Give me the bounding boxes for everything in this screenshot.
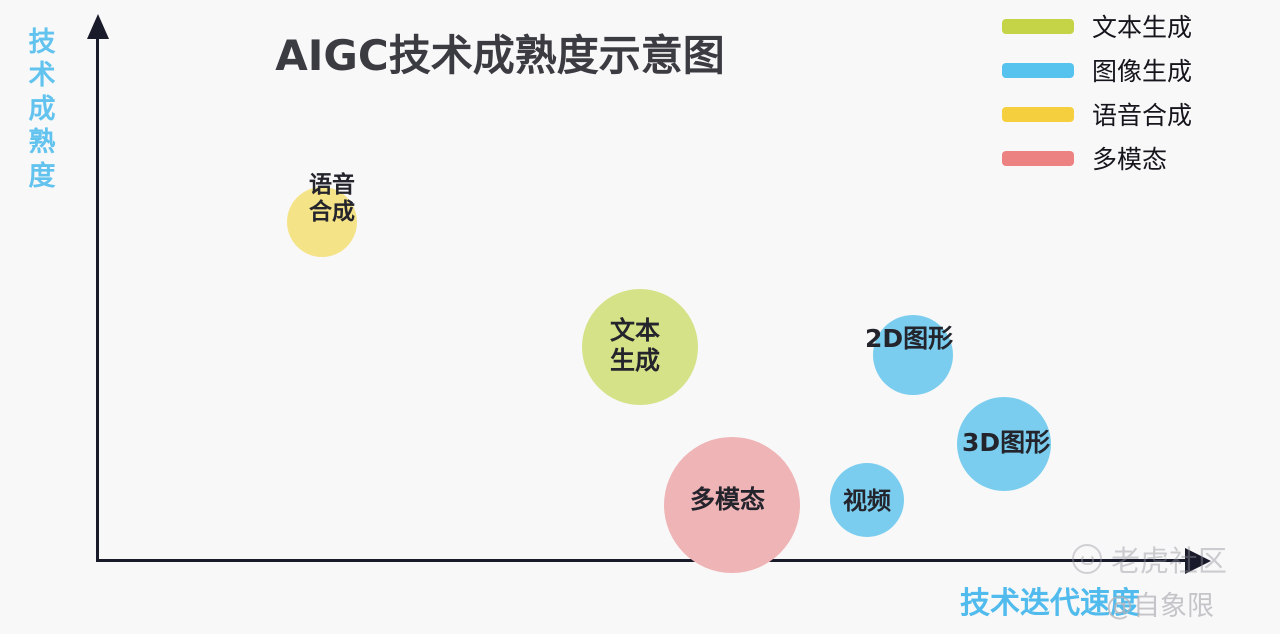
y-axis-line bbox=[96, 32, 99, 562]
legend-item-2[interactable]: 图像生成 bbox=[1002, 48, 1278, 92]
bubble-label: 2D图形 bbox=[865, 324, 953, 354]
tiger-logo-icon bbox=[1072, 544, 1102, 574]
legend: 文本生成图像生成语音合成多模态 bbox=[1002, 4, 1278, 180]
bubble-label: 文本 生成 bbox=[610, 316, 660, 375]
legend-item-label: 文本生成 bbox=[1092, 8, 1192, 44]
legend-item-label: 多模态 bbox=[1092, 140, 1167, 176]
legend-item-4[interactable]: 多模态 bbox=[1002, 136, 1278, 180]
legend-swatch-icon bbox=[1002, 151, 1074, 166]
legend-item-1[interactable]: 文本生成 bbox=[1002, 4, 1278, 48]
watermark-tiger-label: 老虎社区 bbox=[1111, 538, 1227, 580]
bubble-label: 3D图形 bbox=[962, 428, 1050, 458]
bubble-label: 语音 合成 bbox=[309, 172, 355, 226]
legend-item-label: 图像生成 bbox=[1092, 52, 1192, 88]
watermark-tiger: 老虎社区 bbox=[1072, 538, 1227, 580]
bubble-label: 视频 bbox=[843, 487, 891, 515]
chart-canvas: AIGC技术成熟度示意图 技术成熟度 技术迭代速度 语音 合成文本 生成2D图形… bbox=[0, 0, 1280, 634]
legend-swatch-icon bbox=[1002, 63, 1074, 78]
x-axis-line bbox=[96, 559, 1188, 562]
legend-item-3[interactable]: 语音合成 bbox=[1002, 92, 1278, 136]
legend-item-label: 语音合成 bbox=[1092, 96, 1192, 132]
y-axis-label: 技术成熟度 bbox=[22, 26, 62, 193]
watermark-handle: @自象限 bbox=[1106, 584, 1214, 623]
page-title: AIGC技术成熟度示意图 bbox=[0, 22, 1000, 83]
legend-swatch-icon bbox=[1002, 19, 1074, 34]
bubble-label: 多模态 bbox=[690, 485, 765, 515]
legend-swatch-icon bbox=[1002, 107, 1074, 122]
